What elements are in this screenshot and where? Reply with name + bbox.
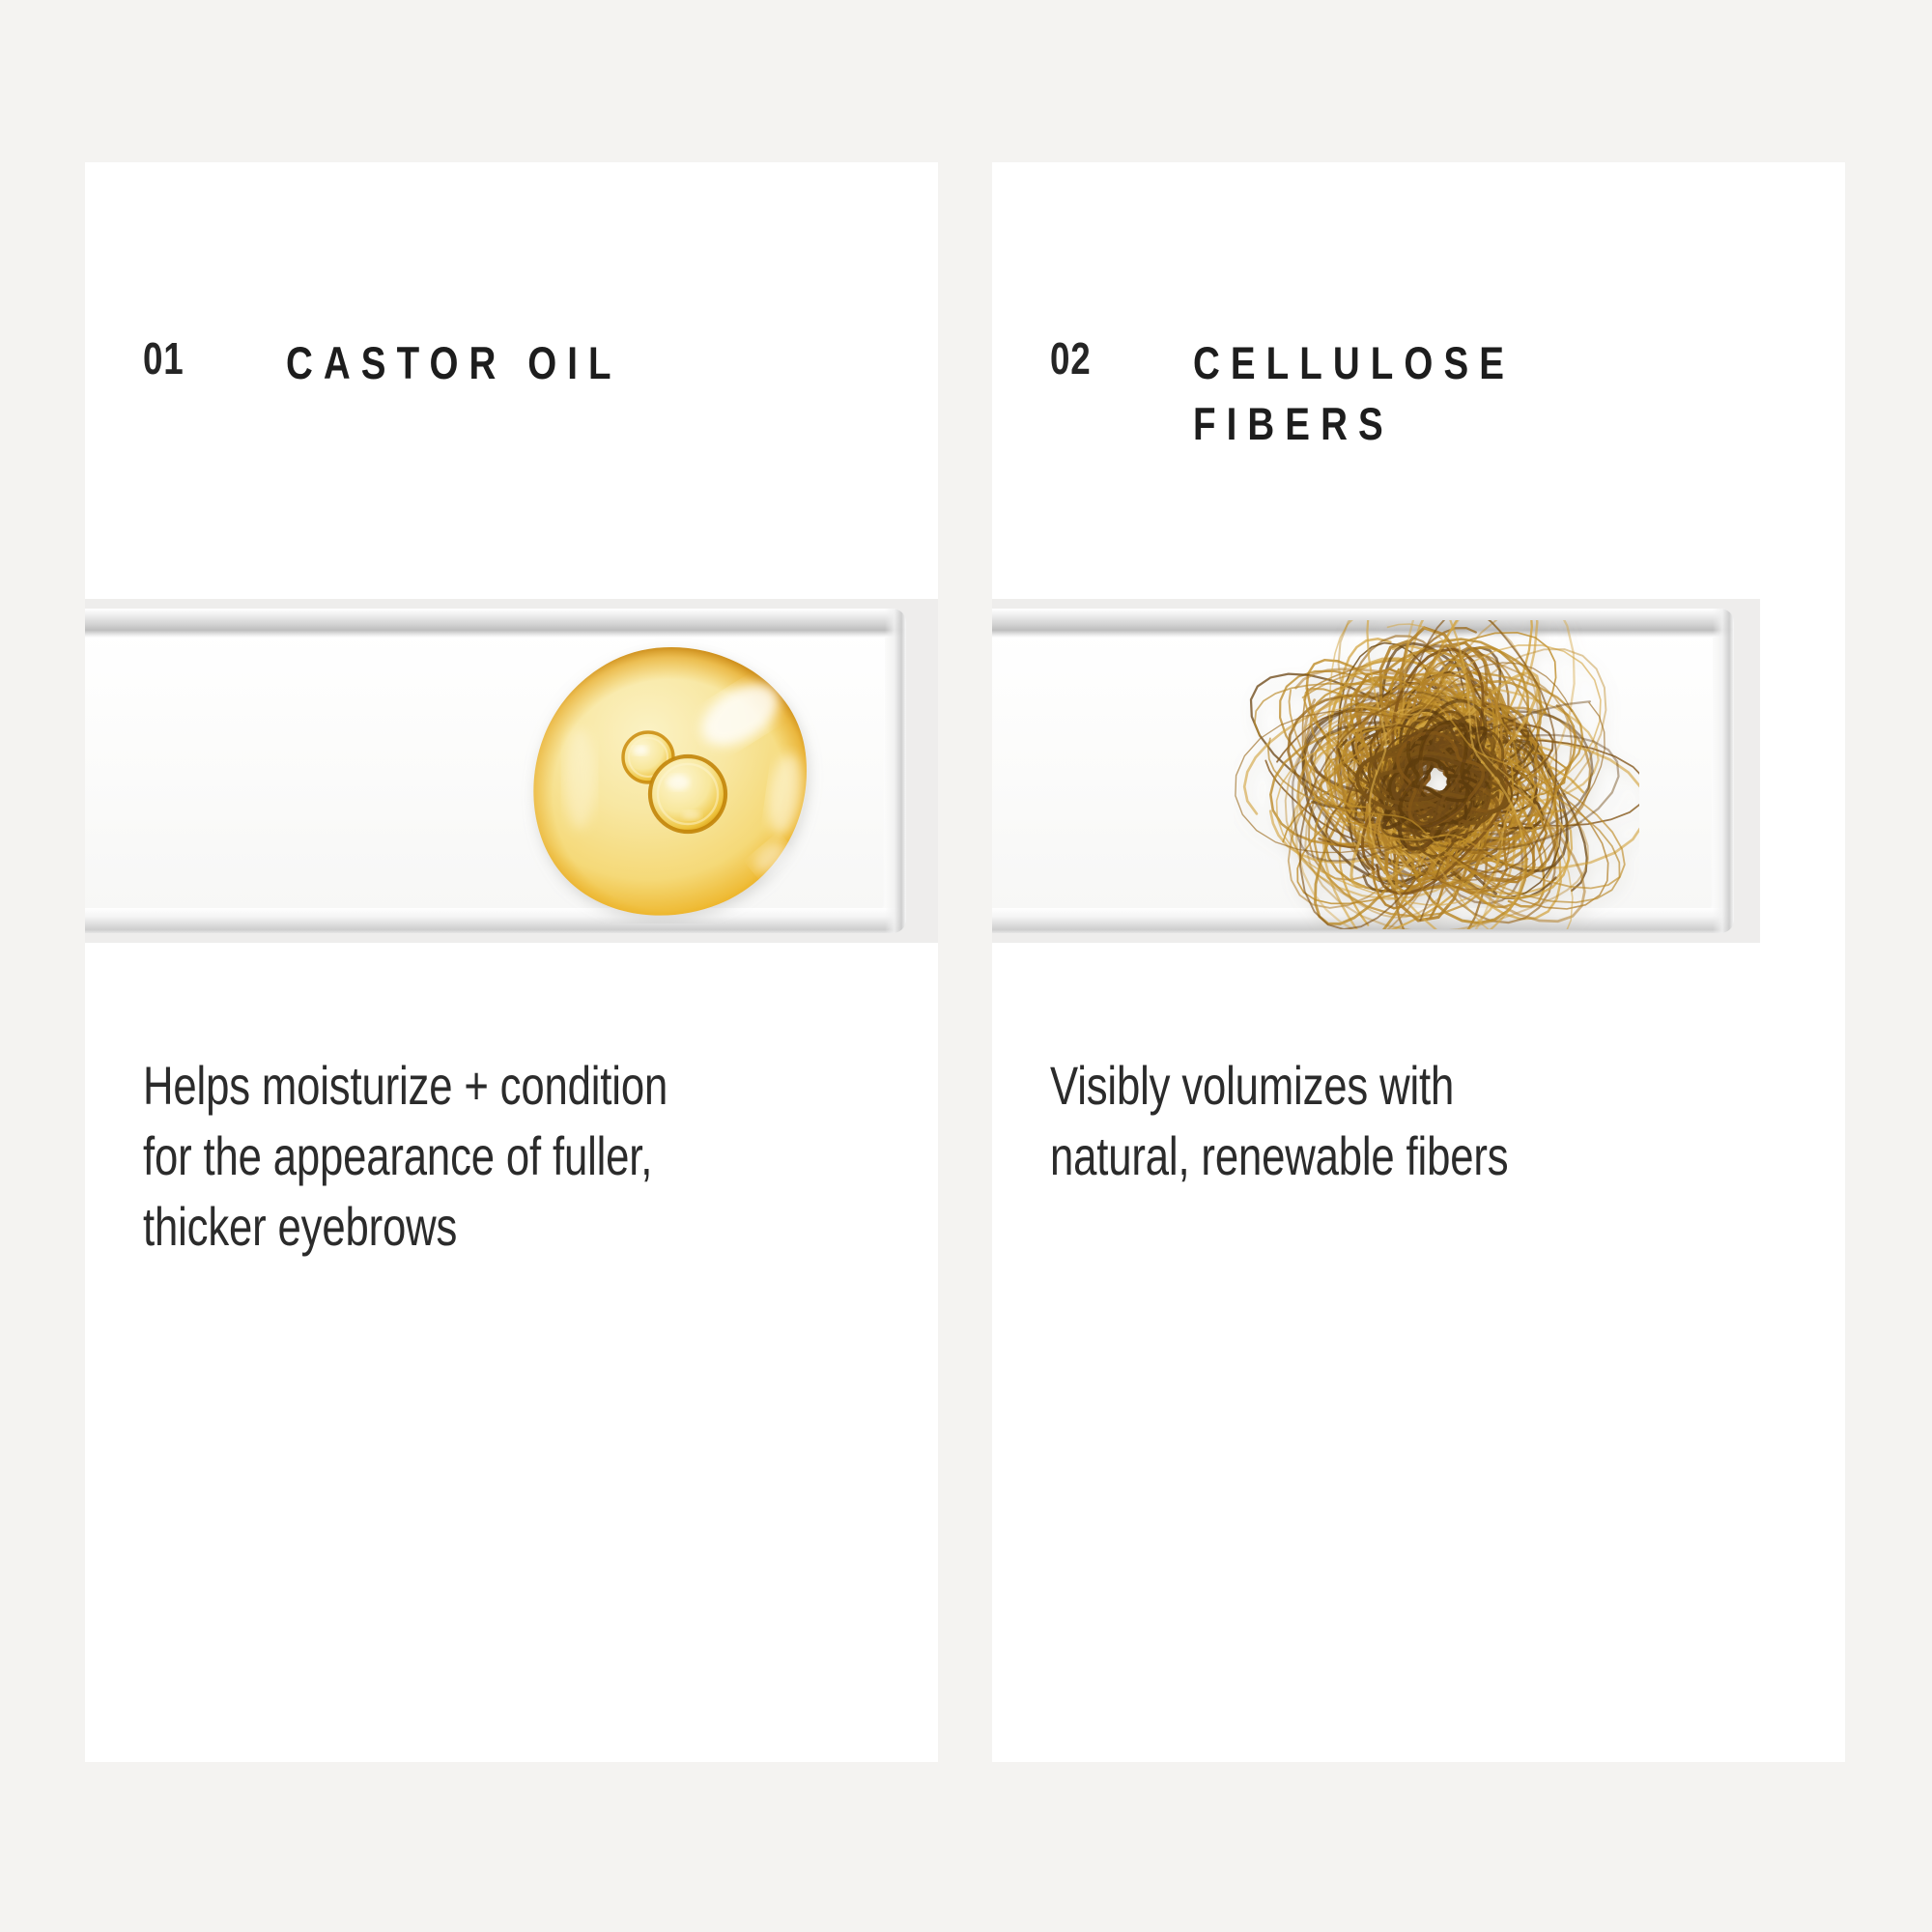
card-2-index-number: 02 <box>1050 333 1092 381</box>
card-1-desc-line-2: for the appearance of fuller, <box>143 1122 738 1192</box>
card-1-description: Helps moisturize + condition for the app… <box>143 1051 738 1262</box>
oil-sheen-left <box>564 728 595 829</box>
card-2-desc-line-2: natural, renewable fibers <box>1050 1122 1645 1192</box>
card-2-title: CELLULOSE FIBERS <box>1193 333 1515 454</box>
card-1-clip: 01 CASTOR OIL <box>85 162 938 1762</box>
card-2-heading: 02 CELLULOSE FIBERS <box>1050 333 1585 454</box>
card-2-clip: 02 CELLULOSE FIBERS <box>992 162 1845 1762</box>
fiber-strands <box>1236 620 1639 929</box>
card-2-title-line-2: FIBERS <box>1193 394 1515 455</box>
cellulose-fiber-tangle-icon <box>1234 620 1639 929</box>
card-1-title-line-1: CASTOR OIL <box>286 333 622 394</box>
card-1-heading: 01 CASTOR OIL <box>143 333 696 394</box>
card-1-ingredient-photo <box>85 599 938 943</box>
ingredient-comparison-panel: 01 CASTOR OIL <box>0 0 1932 1932</box>
oil-bubble-large <box>650 756 725 832</box>
tile-1-right-bevel <box>885 609 906 933</box>
card-1-desc-line-1: Helps moisturize + condition <box>143 1051 738 1122</box>
card-1-title: CASTOR OIL <box>286 333 622 394</box>
ingredient-card-castor-oil: 01 CASTOR OIL <box>85 162 938 1762</box>
card-2-desc-line-1: Visibly volumizes with <box>1050 1051 1645 1122</box>
card-1-desc-line-3: thicker eyebrows <box>143 1192 738 1263</box>
tile-2-right-bevel <box>1713 609 1734 933</box>
ingredient-card-cellulose-fibers: 02 CELLULOSE FIBERS <box>992 162 1845 1762</box>
card-2-description: Visibly volumizes with natural, renewabl… <box>1050 1051 1645 1192</box>
castor-oil-droplet-icon <box>512 634 831 923</box>
card-1-index-number: 01 <box>143 333 185 381</box>
card-2-ingredient-photo <box>992 599 1760 943</box>
card-2-title-line-1: CELLULOSE <box>1193 333 1515 394</box>
